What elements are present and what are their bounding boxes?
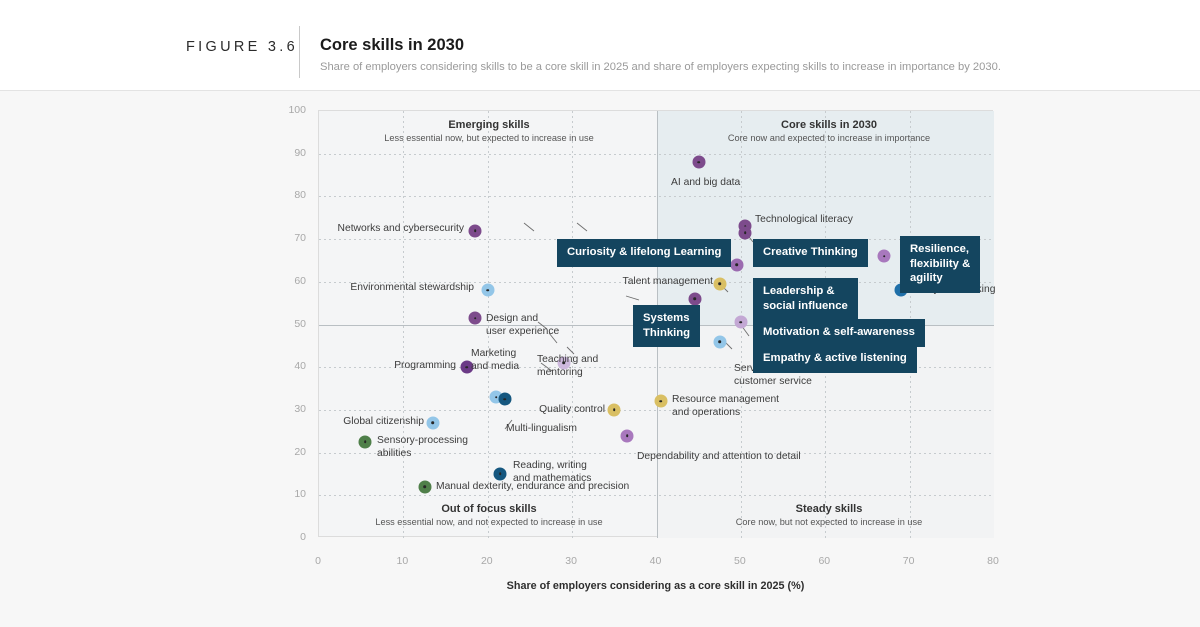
data-point-creative-thinking[interactable] bbox=[739, 226, 752, 239]
figure-header: FIGURE 3.6 Core skills in 2030 Share of … bbox=[0, 0, 1200, 90]
data-point-ai-and-big-data[interactable] bbox=[692, 156, 705, 169]
callout-systems-thinking[interactable]: Systems Thinking bbox=[633, 305, 700, 347]
data-point-resource-management[interactable] bbox=[654, 395, 667, 408]
callout-creative-thinking[interactable]: Creative Thinking bbox=[753, 239, 868, 267]
callout-resilience-flexibility-agility[interactable]: Resilience, flexibility & agility bbox=[900, 236, 980, 293]
x-tick: 10 bbox=[382, 555, 422, 567]
x-tick: 0 bbox=[298, 555, 338, 567]
data-point-quality-control[interactable] bbox=[608, 403, 621, 416]
y-tick: 80 bbox=[272, 189, 306, 201]
x-tick: 50 bbox=[720, 555, 760, 567]
data-point-design-and-user-experience[interactable] bbox=[469, 312, 482, 325]
callout-empathy-active-listening[interactable]: Empathy & active listening bbox=[753, 345, 917, 373]
plot-area: Emerging skills Less essential now, but … bbox=[318, 110, 993, 537]
data-point-curiosity[interactable] bbox=[730, 258, 743, 271]
data-point-manual-dexterity[interactable] bbox=[418, 480, 431, 493]
data-point-resilience[interactable] bbox=[878, 250, 891, 263]
data-point-motivation-empathy[interactable] bbox=[734, 316, 747, 329]
chart-canvas: 100 90 80 70 60 50 40 30 20 10 0 Share o… bbox=[0, 91, 1200, 627]
data-point-reading-writing-math[interactable] bbox=[494, 467, 507, 480]
data-point-sensory-processing[interactable] bbox=[359, 435, 372, 448]
y-tick: 50 bbox=[272, 318, 306, 330]
x-tick: 40 bbox=[636, 555, 676, 567]
data-point-talent-management[interactable] bbox=[713, 277, 726, 290]
data-point-networks-and-cybersecurity[interactable] bbox=[469, 224, 482, 237]
y-tick: 90 bbox=[272, 147, 306, 159]
data-point-systems-thinking[interactable] bbox=[688, 292, 701, 305]
callout-leadership-social-influence[interactable]: Leadership & social influence bbox=[753, 278, 858, 320]
figure-number: FIGURE 3.6 bbox=[186, 39, 298, 55]
y-tick: 20 bbox=[272, 446, 306, 458]
data-point-teaching-and-mentoring[interactable] bbox=[557, 356, 570, 369]
data-point-multi-lingualism[interactable] bbox=[498, 393, 511, 406]
figure-page: FIGURE 3.6 Core skills in 2030 Share of … bbox=[0, 0, 1200, 627]
data-point-dependability[interactable] bbox=[621, 429, 634, 442]
callout-motivation-self-awareness[interactable]: Motivation & self-awareness bbox=[753, 319, 925, 347]
callout-curiosity-lifelong-learning[interactable]: Curiosity & lifelong Learning bbox=[557, 239, 731, 267]
header-divider bbox=[299, 26, 300, 78]
x-axis-label: Share of employers considering as a core… bbox=[318, 580, 993, 592]
x-tick: 30 bbox=[551, 555, 591, 567]
y-tick: 10 bbox=[272, 488, 306, 500]
y-tick: 30 bbox=[272, 403, 306, 415]
y-tick: 40 bbox=[272, 360, 306, 372]
x-tick: 80 bbox=[973, 555, 1013, 567]
page-title: Core skills in 2030 bbox=[320, 36, 464, 55]
y-tick: 100 bbox=[272, 104, 306, 116]
page-subtitle: Share of employers considering skills to… bbox=[320, 61, 1001, 73]
data-point-programming[interactable] bbox=[460, 361, 473, 374]
data-point-global-citizenship[interactable] bbox=[426, 416, 439, 429]
data-point-service-orientation[interactable] bbox=[713, 335, 726, 348]
y-tick: 0 bbox=[272, 531, 306, 543]
x-tick: 20 bbox=[467, 555, 507, 567]
y-tick: 60 bbox=[272, 275, 306, 287]
data-point-environmental-stewardship[interactable] bbox=[481, 284, 494, 297]
x-tick: 60 bbox=[804, 555, 844, 567]
x-tick: 70 bbox=[889, 555, 929, 567]
y-tick: 70 bbox=[272, 232, 306, 244]
